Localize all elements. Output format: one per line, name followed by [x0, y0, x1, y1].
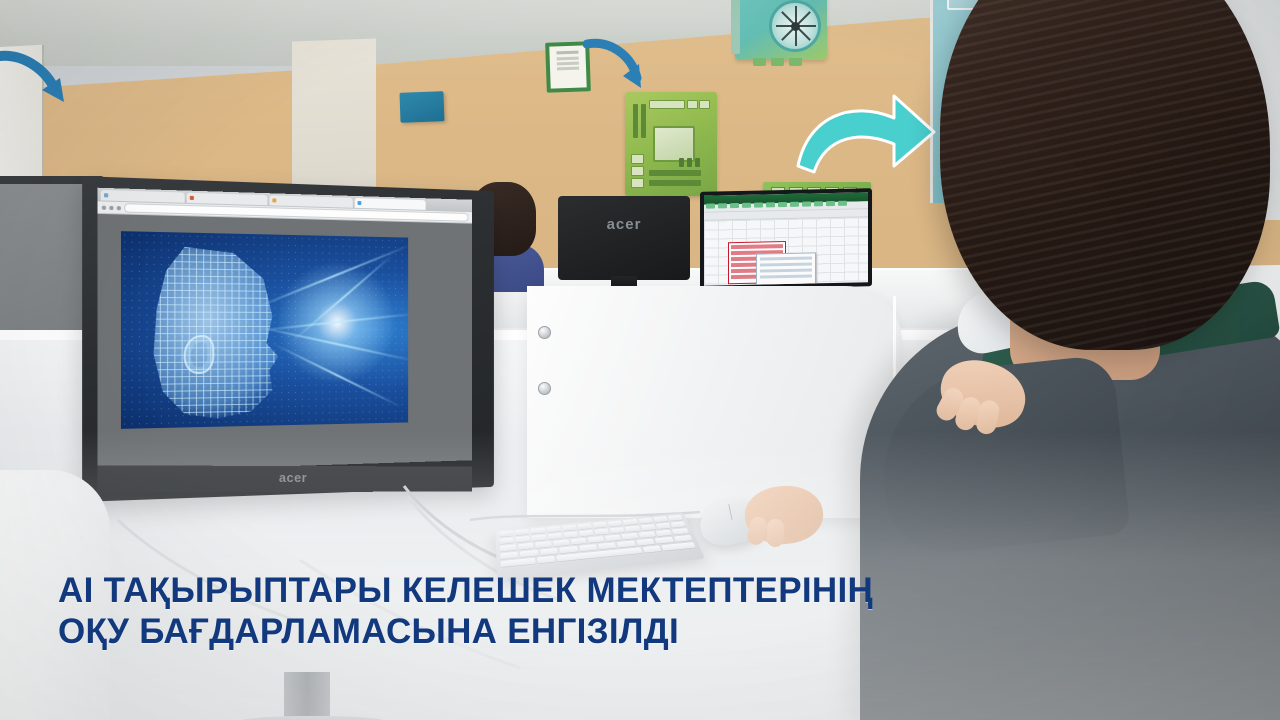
- ai-wireframe-head-image: [121, 231, 408, 429]
- main-monitor-screen: [98, 188, 472, 473]
- wireframe-head: [138, 246, 290, 420]
- monitor-stand: [284, 672, 330, 720]
- graphics-card-decal: [735, 0, 827, 60]
- arrow-decal-blue-small-1: [583, 38, 647, 94]
- news-banner-image: acer: [0, 0, 1280, 720]
- reload-icon[interactable]: [117, 206, 121, 210]
- browser-tab[interactable]: [187, 192, 268, 205]
- acer-logo-secondary: acer: [558, 216, 690, 233]
- desk-divider-panel: [527, 286, 902, 518]
- headline-line-1: AI ТАҚЫРЫПТАРЫ КЕЛЕШЕК МЕКТЕПТЕРІНІҢ: [58, 571, 873, 610]
- student-hair: [940, 0, 1270, 350]
- browser-tab[interactable]: [101, 189, 185, 202]
- third-monitor: [700, 188, 872, 290]
- browser-page: [98, 214, 472, 472]
- browser-tab[interactable]: [269, 195, 352, 208]
- arrow-decal-blue-small-2: [596, 40, 606, 50]
- motherboard-decal: [625, 92, 717, 196]
- main-monitor: acer: [88, 184, 508, 494]
- monitor-bezel: acer: [98, 465, 472, 492]
- wireframe-ear: [184, 335, 215, 374]
- headline-line-2: ОҚУ БАҒДАРЛАМАСЫНА ЕНГІЗІЛДІ: [58, 612, 679, 651]
- forward-arrow-icon[interactable]: [109, 205, 113, 209]
- back-arrow-icon[interactable]: [102, 205, 106, 209]
- arrow-decal-blue-small-3: [0, 48, 74, 112]
- acer-logo-main: acer: [98, 470, 472, 486]
- browser-tab-active[interactable]: [355, 197, 426, 209]
- blue-wall-sign: [399, 91, 444, 123]
- doorway: [292, 39, 376, 202]
- secondary-monitor: acer: [558, 196, 690, 280]
- headline-text: AI ТАҚЫРЫПТАРЫ КЕЛЕШЕК МЕКТЕПТЕРІНІҢОҚУ …: [58, 570, 1058, 652]
